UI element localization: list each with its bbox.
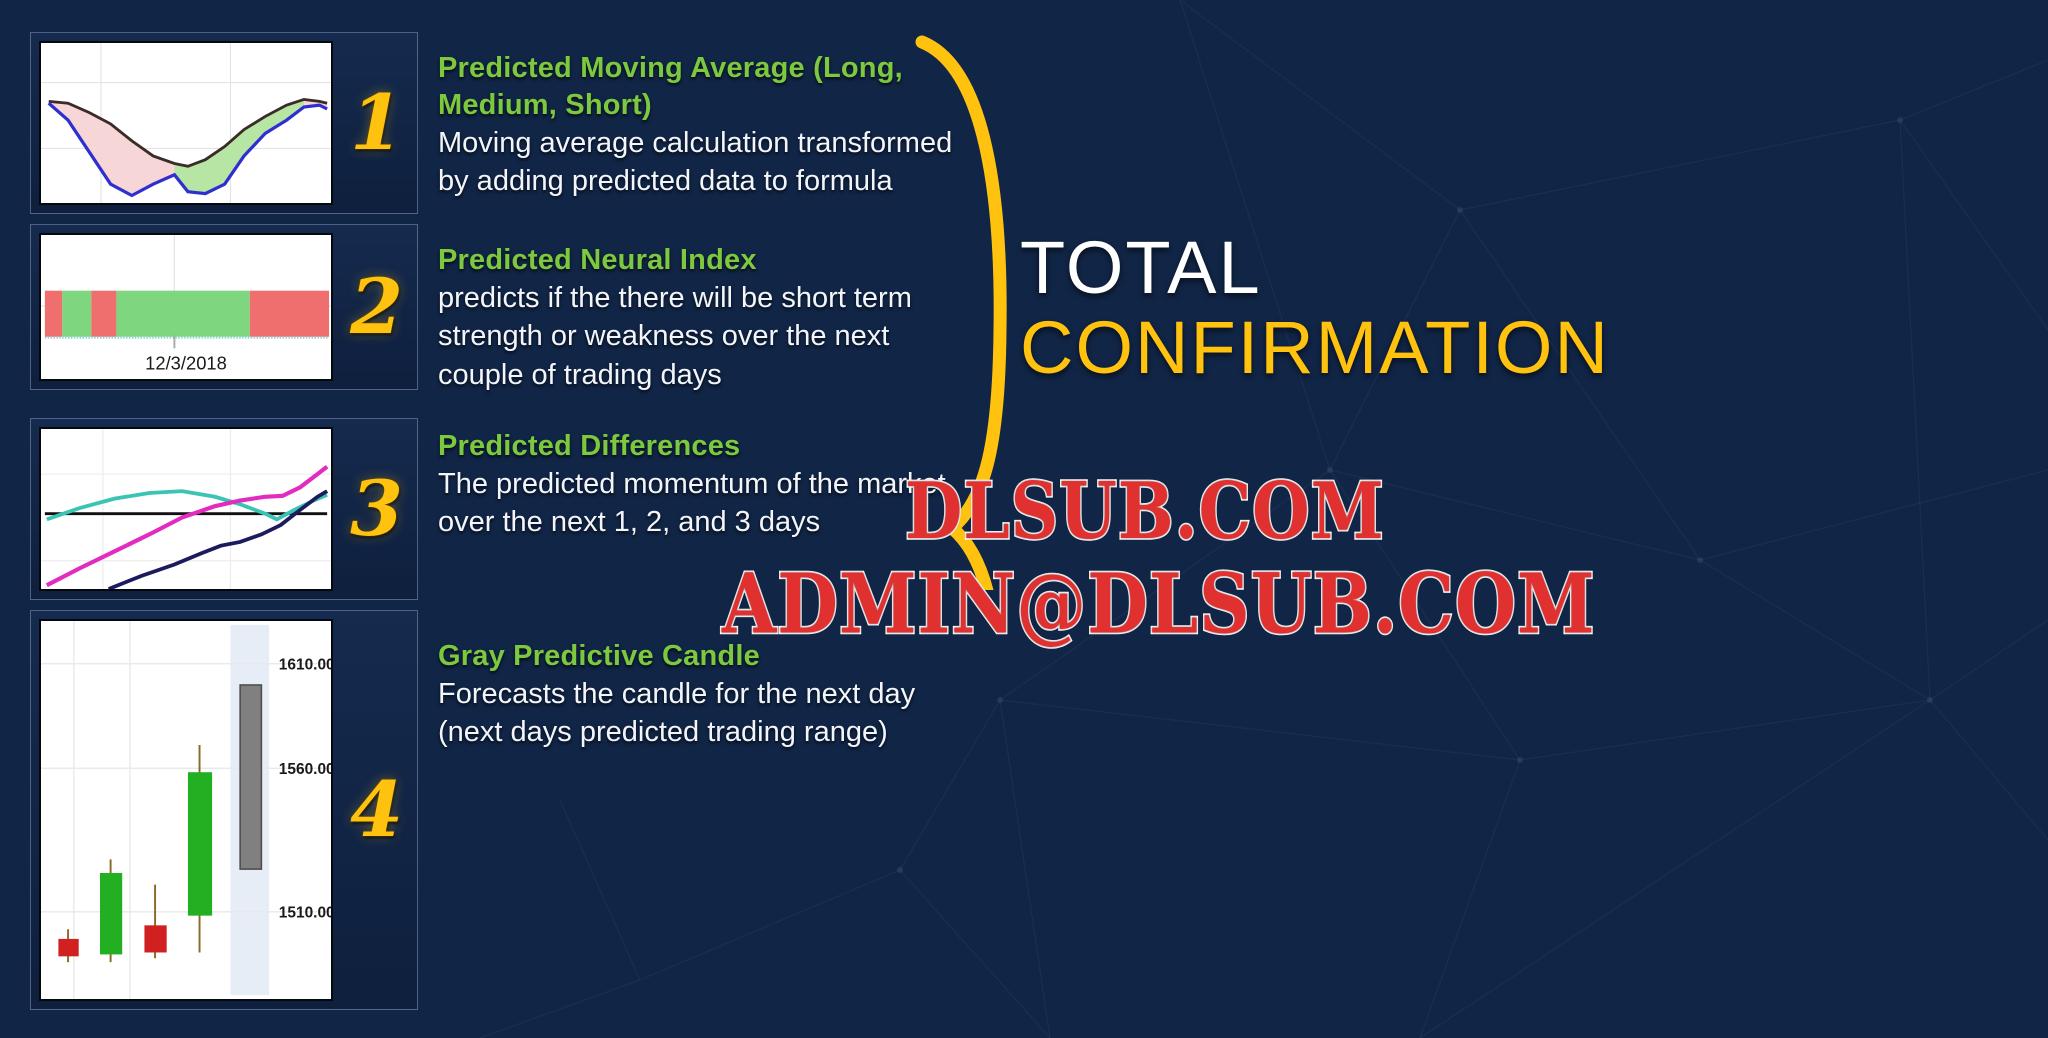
watermark-site: DLSUB.COM	[905, 465, 1385, 557]
feature-body-1: Moving average calculation transformed b…	[438, 124, 978, 201]
total-confirmation-callout: TOTAL CONFIRMATION	[1020, 228, 2030, 388]
gray-predictive-candle-chart[interactable]: 1610.00 1560.00 1510.00	[39, 619, 333, 1001]
callout-line-1: TOTAL	[1020, 228, 2030, 308]
feature-block-2: Predicted Neural Index predicts if the t…	[438, 242, 978, 395]
feature-block-4: Gray Predictive Candle Forecasts the can…	[438, 638, 978, 752]
feature-block-3: Predicted Differences The predicted mome…	[438, 428, 978, 542]
price-tick-1610: 1610.00	[279, 656, 331, 673]
feature-body-4: Forecasts the candle for the next day (n…	[438, 675, 978, 752]
chart-panel-4[interactable]: 1610.00 1560.00 1510.00 4	[30, 610, 418, 1010]
feature-block-1: Predicted Moving Average (Long, Medium, …	[438, 50, 978, 201]
item-number-4: 4	[350, 772, 403, 848]
feature-body-3: The predicted momentum of the market ove…	[438, 465, 978, 542]
predicted-moving-average-chart[interactable]	[39, 41, 333, 205]
infographic-canvas: 1 12/3/2018 2	[0, 0, 2048, 1038]
predicted-differences-chart[interactable]	[39, 427, 333, 591]
feature-heading-3: Predicted Differences	[438, 428, 978, 465]
item-number-3: 3	[350, 471, 403, 547]
callout-line-2: CONFIRMATION	[1020, 308, 2030, 388]
item-number-2: 2	[350, 269, 403, 345]
chart-panel-1[interactable]: 1	[30, 32, 418, 214]
neural-index-bars	[45, 291, 329, 337]
price-tick-1560: 1560.00	[279, 761, 331, 778]
feature-body-2: predicts if the there will be short term…	[438, 279, 978, 395]
chart2-date-label: 12/3/2018	[145, 352, 227, 373]
feature-heading-1: Predicted Moving Average (Long, Medium, …	[438, 50, 978, 124]
item-number-1: 1	[350, 85, 403, 161]
chart-panel-3[interactable]: 3	[30, 418, 418, 600]
price-tick-1510: 1510.00	[279, 905, 331, 922]
predicted-neural-index-chart[interactable]: 12/3/2018	[39, 233, 333, 381]
watermark-email: ADMIN@DLSUB.COM	[722, 555, 1595, 653]
chart-panel-2[interactable]: 12/3/2018 2	[30, 224, 418, 390]
feature-heading-2: Predicted Neural Index	[438, 242, 978, 279]
